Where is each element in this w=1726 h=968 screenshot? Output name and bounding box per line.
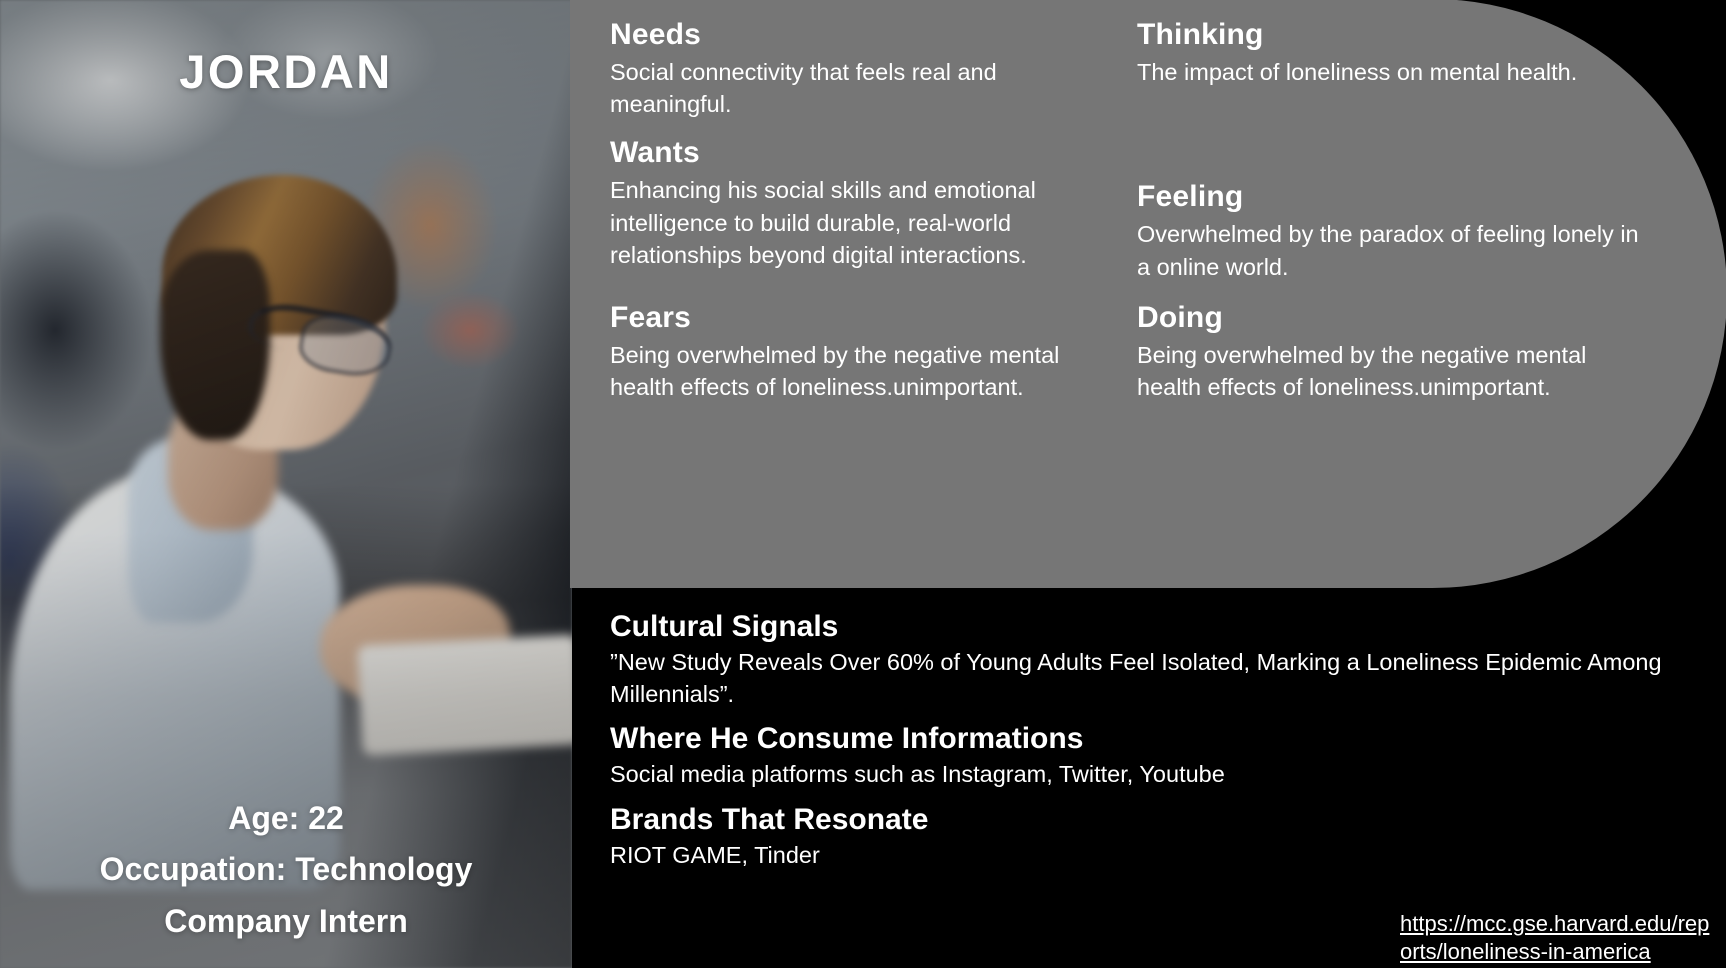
- fears-title: Fears: [610, 301, 1109, 335]
- empathy-map-grid: Needs Social connectivity that feels rea…: [610, 18, 1680, 403]
- feeling-title: Feeling: [1137, 180, 1652, 214]
- cultural-signals-title: Cultural Signals: [610, 610, 1680, 644]
- persona-occupation-line-2: Company Intern: [14, 896, 558, 948]
- empathy-cell-thinking: Thinking The impact of loneliness on men…: [1137, 18, 1680, 120]
- section-brands: Brands That Resonate RIOT GAME, Tinder: [610, 803, 1680, 871]
- wants-title: Wants: [610, 136, 1109, 170]
- section-where-consume: Where He Consume Informations Social med…: [610, 722, 1680, 790]
- empathy-cell-doing: Doing Being overwhelmed by the negative …: [1137, 283, 1680, 403]
- wants-body: Enhancing his social skills and emotiona…: [610, 174, 1109, 271]
- section-cultural-signals: Cultural Signals ”New Study Reveals Over…: [610, 610, 1680, 710]
- empathy-cell-wants: Wants Enhancing his social skills and em…: [610, 120, 1137, 282]
- empathy-cell-needs: Needs Social connectivity that feels rea…: [610, 18, 1137, 120]
- persona-age: Age: 22: [14, 793, 558, 845]
- needs-title: Needs: [610, 18, 1109, 52]
- persona-meta: Age: 22 Occupation: Technology Company I…: [14, 793, 558, 948]
- brands-body: RIOT GAME, Tinder: [610, 839, 1680, 871]
- cultural-signals-body: ”New Study Reveals Over 60% of Young Adu…: [610, 646, 1665, 710]
- persona-occupation-line-1: Occupation: Technology: [14, 844, 558, 896]
- source-link[interactable]: https://mcc.gse.harvard.edu/reports/lone…: [1400, 910, 1710, 966]
- persona-photo-panel: JORDAN Age: 22 Occupation: Technology Co…: [0, 0, 572, 968]
- feeling-body: Overwhelmed by the paradox of feeling lo…: [1137, 218, 1652, 282]
- brands-title: Brands That Resonate: [610, 803, 1680, 837]
- bottom-details-section: Cultural Signals ”New Study Reveals Over…: [610, 610, 1680, 883]
- doing-title: Doing: [1137, 301, 1652, 335]
- persona-slide: JORDAN Age: 22 Occupation: Technology Co…: [0, 0, 1726, 968]
- needs-body: Social connectivity that feels real and …: [610, 56, 1109, 120]
- thinking-title: Thinking: [1137, 18, 1652, 52]
- where-consume-body: Social media platforms such as Instagram…: [610, 758, 1680, 790]
- fears-body: Being overwhelmed by the negative mental…: [610, 339, 1109, 403]
- where-consume-title: Where He Consume Informations: [610, 722, 1680, 756]
- doing-body: Being overwhelmed by the negative mental…: [1137, 339, 1652, 403]
- empathy-cell-fears: Fears Being overwhelmed by the negative …: [610, 283, 1137, 403]
- persona-name: JORDAN: [0, 44, 572, 99]
- thinking-body: The impact of loneliness on mental healt…: [1137, 56, 1652, 88]
- empathy-cell-feeling: Feeling Overwhelmed by the paradox of fe…: [1137, 120, 1680, 282]
